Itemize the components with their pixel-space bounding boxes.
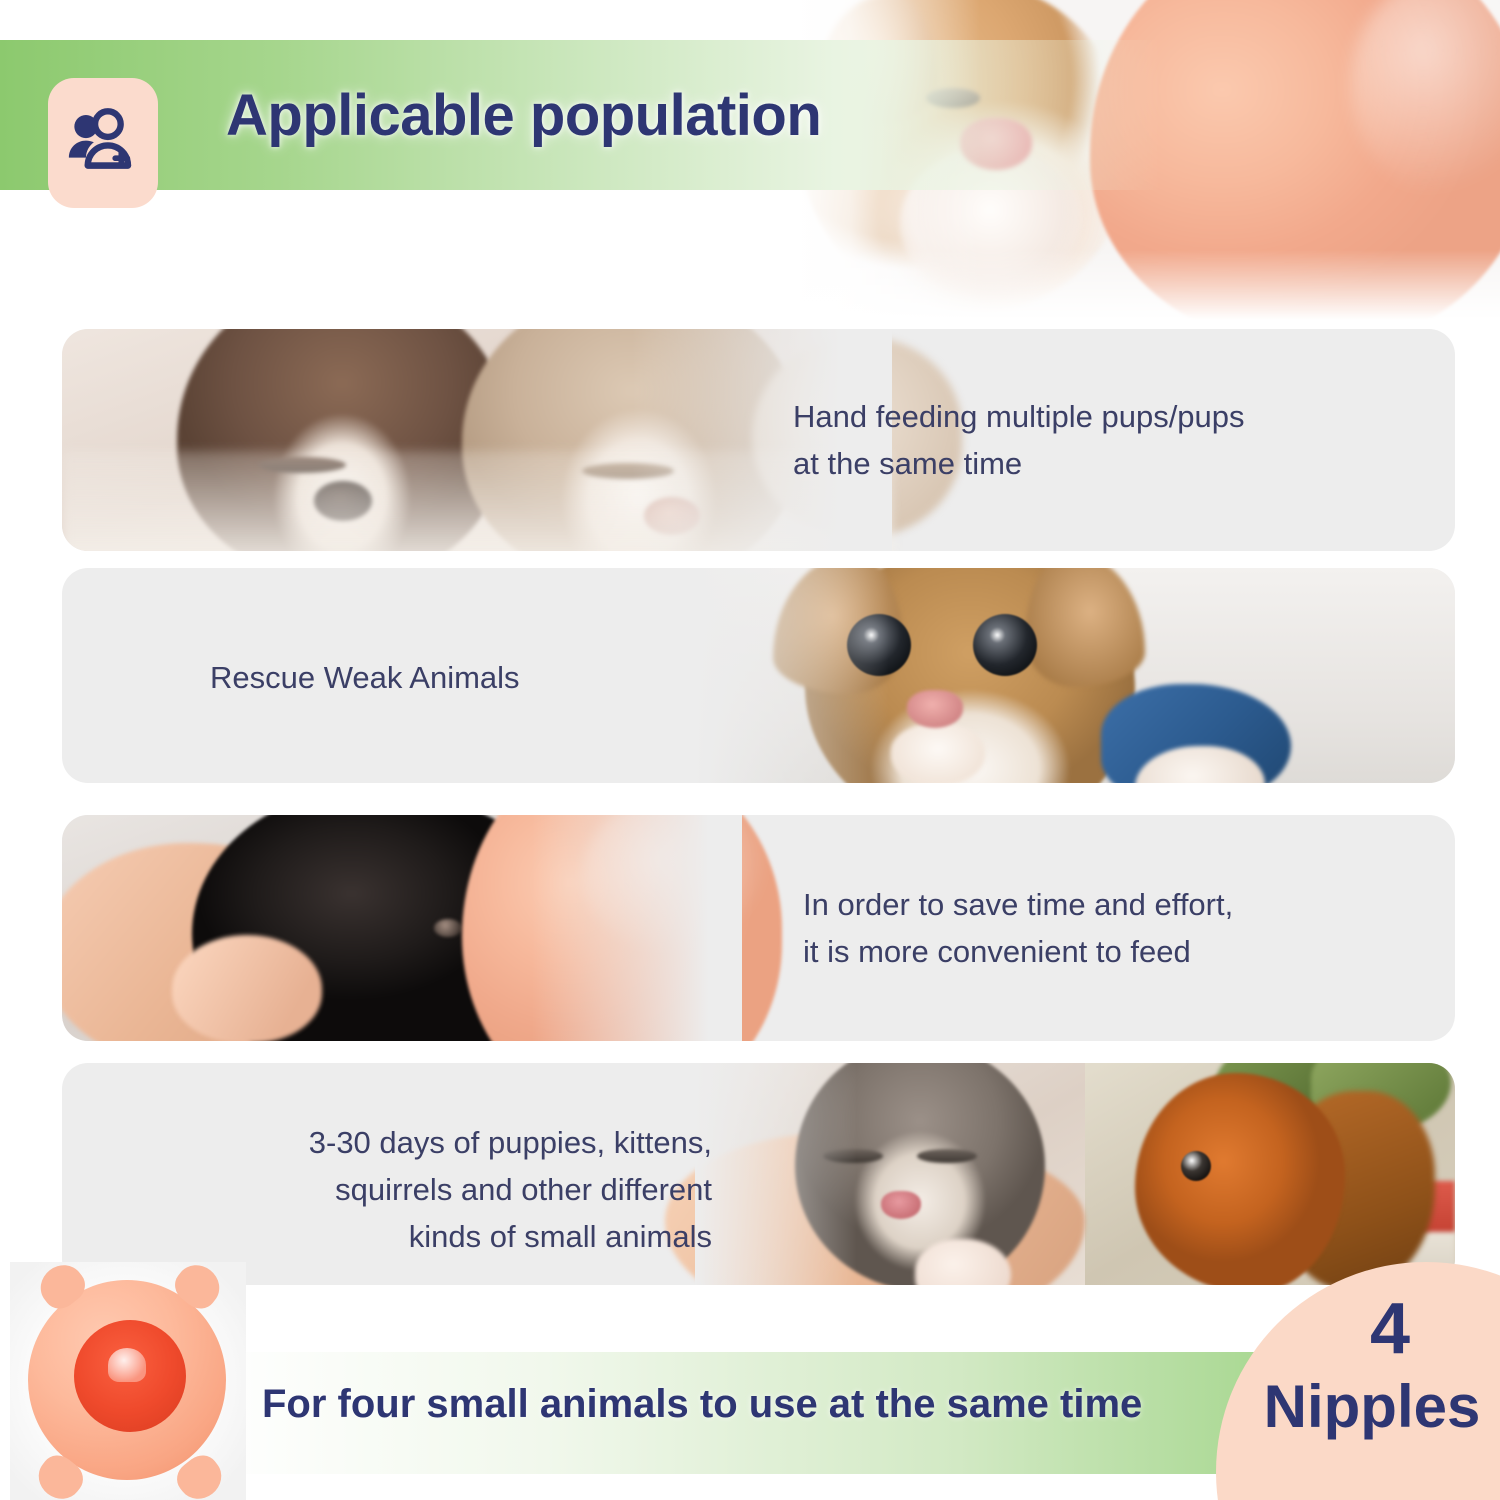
page-title: Applicable population <box>226 82 821 149</box>
nipples-badge-number: 4 <box>1330 1288 1450 1370</box>
squirrel-body-shape <box>1135 1073 1345 1285</box>
kitten-right-ear-shape <box>1025 568 1145 687</box>
puppy-eye-shape <box>434 919 462 937</box>
add-people-icon <box>48 78 158 208</box>
card-2-caption: Rescue Weak Animals <box>210 654 770 701</box>
infographic-page: Applicable population Hand feeding multi… <box>0 0 1500 1500</box>
photo-bottom-fade <box>790 250 1500 320</box>
applicable-card-1: Hand feeding multiple pups/pups at the s… <box>62 329 1455 551</box>
footer-caption: For four small animals to use at the sam… <box>262 1382 1142 1427</box>
photo-left-fade <box>695 1063 875 1285</box>
applicable-card-3: In order to save time and effort, it is … <box>62 815 1455 1041</box>
kitten-nose-shape <box>907 690 963 728</box>
black-puppy-bottle-feeding-photo <box>62 815 742 1041</box>
newborn-kitten-and-squirrel-photo <box>695 1063 1455 1285</box>
applicable-card-4: 3-30 days of puppies, kittens, squirrels… <box>62 1063 1455 1285</box>
card-1-caption: Hand feeding multiple pups/pups at the s… <box>793 393 1393 487</box>
applicable-card-2: Rescue Weak Animals <box>62 568 1455 783</box>
thumb-shape <box>172 935 322 1041</box>
card-3-caption: In order to save time and effort, it is … <box>803 881 1383 975</box>
photo-right-fade <box>532 815 742 1041</box>
tabby-kitten-with-blue-toy-photo <box>695 568 1455 783</box>
kitten-right-eye-shape <box>917 1149 977 1163</box>
sleeping-husky-puppies-photo <box>62 329 892 551</box>
kitten-right-eye-shape <box>973 614 1037 676</box>
squirrel-eye-shape <box>1181 1151 1211 1181</box>
card-4-caption: 3-30 days of puppies, kittens, squirrels… <box>192 1119 712 1260</box>
kitten-nose-shape <box>881 1191 921 1219</box>
four-nipple-feeder-cap-photo <box>10 1262 246 1500</box>
feeder-cap-tip-shape <box>108 1348 146 1382</box>
nipples-badge-label: Nipples <box>1244 1372 1500 1441</box>
